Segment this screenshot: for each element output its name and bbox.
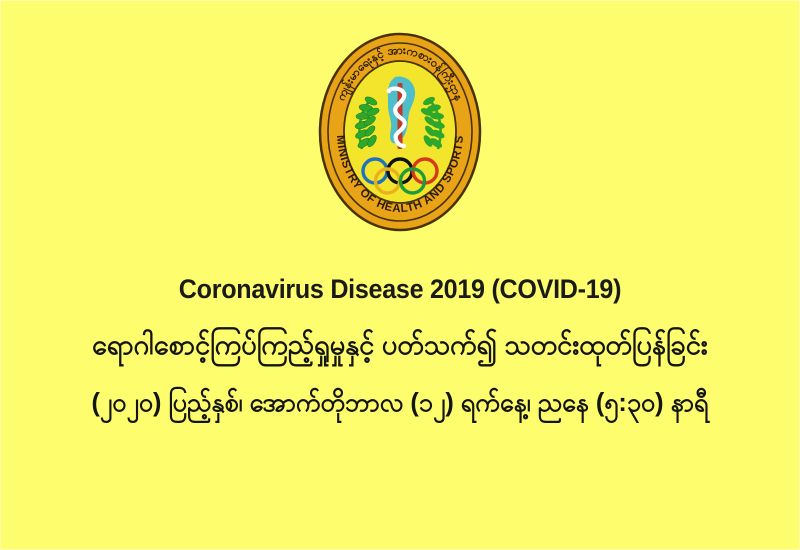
press-release-poster: ကျန်းမာရေးနှင့် အားကစားဝန်ကြီးဌာန MINIST… — [0, 0, 800, 550]
snake-head — [387, 88, 392, 93]
release-datetime-burmese: (၂၀၂၀) ပြည့်နှစ်၊ အောက်တိုဘာလ (၁၂) ရက်နေ… — [12, 386, 788, 419]
ministry-seal-emblem: ကျန်းမာရေးနှင့် အားကစားဝန်ကြီးဌာန MINIST… — [317, 31, 483, 233]
page-title-english: Coronavirus Disease 2019 (COVID-19) — [28, 275, 772, 305]
headings-block: Coronavirus Disease 2019 (COVID-19) ရောဂ… — [0, 275, 800, 418]
page-title-burmese: ရောဂါစောင့်ကြပ်ကြည့်ရှုမှုနှင့် ပတ်သက်၍ … — [12, 327, 788, 362]
